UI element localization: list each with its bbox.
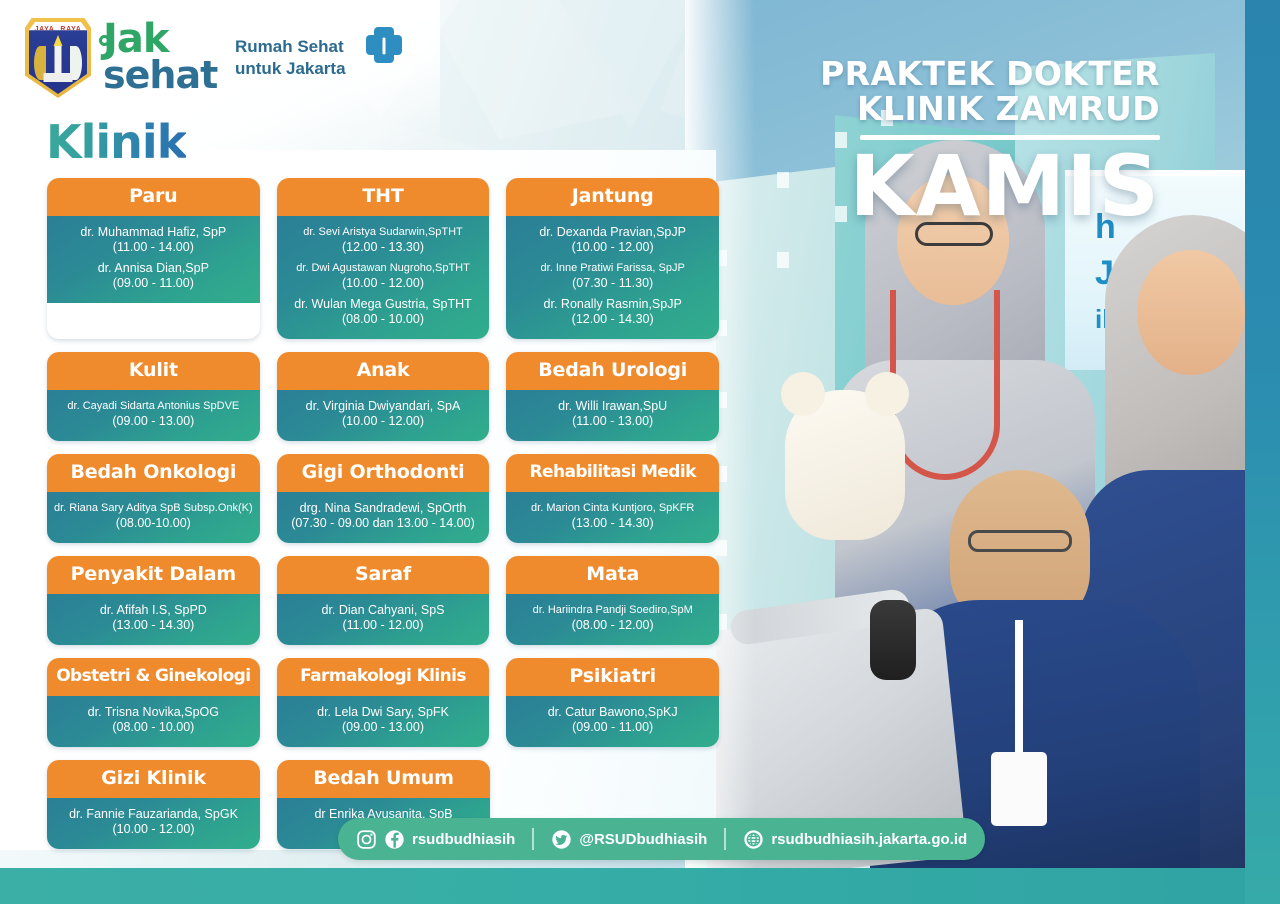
right-accent-bar xyxy=(1245,0,1280,904)
doctor-entry: dr. Sevi Aristya Sudarwin,SpTHT(12.00 - … xyxy=(281,225,486,255)
doctor-name: dr. Dian Cahyani, SpS xyxy=(281,603,486,618)
doctor-name: dr. Wulan Mega Gustria, SpTHT xyxy=(281,297,486,312)
doctor-name: dr. Willi Irawan,SpU xyxy=(510,399,715,414)
clinic-card-title: Rehabilitasi Medik xyxy=(506,454,719,492)
clinic-card-title: Farmakologi Klinis xyxy=(277,658,490,696)
doctor-entry: dr. Inne Pratiwi Farissa, SpJP(07.30 - 1… xyxy=(510,261,715,291)
clinic-card-title: Mata xyxy=(506,556,719,594)
clinic-card-title: Bedah Umum xyxy=(277,760,490,798)
doctor-schedule: (10.00 - 12.00) xyxy=(51,822,256,837)
clinic-card-title: Bedah Onkologi xyxy=(47,454,260,492)
medical-cross-icon xyxy=(362,23,406,72)
doctor-schedule: (13.00 - 14.30) xyxy=(51,618,256,633)
clinic-row: Parudr. Muhammad Hafiz, SpP(11.00 - 14.0… xyxy=(47,178,719,339)
doctor-schedule: (09.00 - 11.00) xyxy=(510,720,715,735)
clinic-card[interactable]: Parudr. Muhammad Hafiz, SpP(11.00 - 14.0… xyxy=(47,178,260,339)
doctor-schedule: (10.00 - 12.00) xyxy=(281,276,486,291)
bottom-accent-bar xyxy=(0,868,1280,904)
tagline-line-1: Rumah Sehat xyxy=(235,36,346,58)
stethoscope-dot-icon xyxy=(99,35,110,46)
doctor-schedule: (08.00-10.00) xyxy=(51,516,256,531)
header-line-2: KLINIK ZAMRUD xyxy=(820,91,1160,126)
doctor-name: dr. Sevi Aristya Sudarwin,SpTHT xyxy=(281,225,486,240)
doctor-name: dr. Muhammad Hafiz, SpP xyxy=(51,225,256,240)
doctor-schedule: (08.00 - 12.00) xyxy=(510,618,715,633)
doctor-schedule: (07.30 - 09.00 dan 13.00 - 14.00) xyxy=(281,516,486,531)
doctor-entry: dr. Fannie Fauzarianda, SpGK(10.00 - 12.… xyxy=(51,807,256,837)
doctor-entry: dr. Marion Cinta Kuntjoro, SpKFR(13.00 -… xyxy=(510,501,715,531)
doctor-name: dr. Riana Sary Aditya SpB Subsp.Onk(K) xyxy=(51,501,256,516)
doctor-name: dr. Lela Dwi Sary, SpFK xyxy=(281,705,486,720)
clinic-card-doctors: dr. Trisna Novika,SpOG(08.00 - 10.00) xyxy=(47,696,260,747)
clinic-card[interactable]: Jantungdr. Dexanda Pravian,SpJP(10.00 - … xyxy=(506,178,719,339)
doctor-entry: dr. Afifah I.S, SpPD(13.00 - 14.30) xyxy=(51,603,256,633)
doctor-schedule: (08.00 - 10.00) xyxy=(51,720,256,735)
doctor-entry: dr. Riana Sary Aditya SpB Subsp.Onk(K)(0… xyxy=(51,501,256,531)
clinic-card[interactable]: Obstetri & Ginekologidr. Trisna Novika,S… xyxy=(47,658,260,747)
clinic-card-doctors: dr. Catur Bawono,SpKJ(09.00 - 11.00) xyxy=(506,696,719,747)
header-line-1: PRAKTEK DOKTER xyxy=(820,56,1160,91)
clinic-card-title: Gizi Klinik xyxy=(47,760,260,798)
doctor-entry: dr. Virginia Dwiyandari, SpA(10.00 - 12.… xyxy=(281,399,486,429)
clinic-card-title: THT xyxy=(277,178,490,216)
jak-wordmark-top: Jak xyxy=(103,21,223,57)
clinic-row: Bedah Onkologidr. Riana Sary Aditya SpB … xyxy=(47,454,719,543)
doctor-schedule: (13.00 - 14.30) xyxy=(510,516,715,531)
clinic-card-doctors: drg. Nina Sandradewi, SpOrth(07.30 - 09.… xyxy=(277,492,490,543)
doctor-schedule: (09.00 - 13.00) xyxy=(281,720,486,735)
clinic-card[interactable]: THTdr. Sevi Aristya Sudarwin,SpTHT(12.00… xyxy=(277,178,490,339)
website-url[interactable]: rsudbudhiasih.jakarta.go.id xyxy=(771,831,967,848)
clinic-card[interactable]: Bedah Onkologidr. Riana Sary Aditya SpB … xyxy=(47,454,260,543)
doctor-name: dr. Dwi Agustawan Nugroho,SpTHT xyxy=(281,261,486,276)
doctor-name: dr. Dexanda Pravian,SpJP xyxy=(510,225,715,240)
clinic-card-title: Saraf xyxy=(277,556,490,594)
social-media-bar: rsudbudhiasih @RSUDbudhiasih rsudbudhias… xyxy=(338,818,985,860)
globe-icon[interactable] xyxy=(743,829,764,850)
doctor-schedule: (10.00 - 12.00) xyxy=(510,240,715,255)
poster-header: PRAKTEK DOKTER KLINIK ZAMRUD KAMIS xyxy=(820,56,1160,230)
clinic-card[interactable]: Matadr. Hariindra Pandji Soediro,SpM(08.… xyxy=(506,556,719,645)
doctor-name: dr. Fannie Fauzarianda, SpGK xyxy=(51,807,256,822)
clinic-card-title: Bedah Urologi xyxy=(506,352,719,390)
instagram-facebook-segment[interactable]: rsudbudhiasih xyxy=(356,829,515,850)
brand-logo-row: JAYA RAYA Jak sehat Rumah Sehat untuk Ja… xyxy=(25,18,406,98)
doctor-entry: dr. Cayadi Sidarta Antonius SpDVE(09.00 … xyxy=(51,399,256,429)
clinic-card[interactable]: Psikiatridr. Catur Bawono,SpKJ(09.00 - 1… xyxy=(506,658,719,747)
social-divider-1 xyxy=(532,828,534,850)
clinic-card[interactable]: Sarafdr. Dian Cahyani, SpS(11.00 - 12.00… xyxy=(277,556,490,645)
doctor-entry: dr. Catur Bawono,SpKJ(09.00 - 11.00) xyxy=(510,705,715,735)
doctor-name: dr. Inne Pratiwi Farissa, SpJP xyxy=(510,261,715,276)
clinic-card-doctors: dr. Riana Sary Aditya SpB Subsp.Onk(K)(0… xyxy=(47,492,260,543)
clinic-card-title: Gigi Orthodonti xyxy=(277,454,490,492)
slit-lamp-knob xyxy=(870,600,916,680)
twitter-icon[interactable] xyxy=(551,829,572,850)
clinic-card[interactable]: Gizi Klinikdr. Fannie Fauzarianda, SpGK(… xyxy=(47,760,260,849)
social-handle[interactable]: rsudbudhiasih xyxy=(412,831,515,848)
doctor-name: dr. Cayadi Sidarta Antonius SpDVE xyxy=(51,399,256,414)
page-title: Klinik xyxy=(46,115,186,169)
website-segment[interactable]: rsudbudhiasih.jakarta.go.id xyxy=(743,829,967,850)
clinic-row: Kulitdr. Cayadi Sidarta Antonius SpDVE(0… xyxy=(47,352,719,441)
clinic-card-doctors: dr. Lela Dwi Sary, SpFK(09.00 - 13.00) xyxy=(277,696,490,747)
clinic-card-doctors: dr. Hariindra Pandji Soediro,SpM(08.00 -… xyxy=(506,594,719,645)
doctor-schedule: (11.00 - 12.00) xyxy=(281,618,486,633)
doctor-glasses-icon xyxy=(968,530,1072,552)
twitter-segment[interactable]: @RSUDbudhiasih xyxy=(551,829,707,850)
clinic-card-doctors: dr. Virginia Dwiyandari, SpA(10.00 - 12.… xyxy=(277,390,490,441)
doctor-name: dr. Catur Bawono,SpKJ xyxy=(510,705,715,720)
clinic-card-grid: Parudr. Muhammad Hafiz, SpP(11.00 - 14.0… xyxy=(47,178,719,862)
clinic-card-title: Penyakit Dalam xyxy=(47,556,260,594)
doctor-name: dr. Ronally Rasmin,SpJP xyxy=(510,297,715,312)
jaksehat-logo: Jak sehat xyxy=(103,21,223,95)
doctor-schedule: (07.30 - 11.30) xyxy=(510,276,715,291)
tagline: Rumah Sehat untuk Jakarta xyxy=(235,36,346,80)
doctor-schedule: (11.00 - 14.00) xyxy=(51,240,256,255)
doctor-name: dr. Trisna Novika,SpOG xyxy=(51,705,256,720)
tagline-line-2: untuk Jakarta xyxy=(235,58,346,80)
nurse-right-face xyxy=(1137,250,1245,375)
doctor-schedule: (09.00 - 13.00) xyxy=(51,414,256,429)
clinic-card[interactable]: Rehabilitasi Medikdr. Marion Cinta Kuntj… xyxy=(506,454,719,543)
clinic-card-doctors: dr. Willi Irawan,SpU(11.00 - 13.00) xyxy=(506,390,719,441)
id-badge xyxy=(991,752,1047,826)
doctor-entry: dr. Wulan Mega Gustria, SpTHT(08.00 - 10… xyxy=(281,297,486,327)
doctor-entry: dr. Trisna Novika,SpOG(08.00 - 10.00) xyxy=(51,705,256,735)
poster-canvas: h Ja ih JAYA RAYA xyxy=(0,0,1280,904)
doctor-name: dr. Marion Cinta Kuntjoro, SpKFR xyxy=(510,501,715,516)
social-divider-2 xyxy=(724,828,726,850)
clinic-card-doctors: dr. Afifah I.S, SpPD(13.00 - 14.30) xyxy=(47,594,260,645)
doctor-entry: drg. Nina Sandradewi, SpOrth(07.30 - 09.… xyxy=(281,501,486,531)
twitter-handle[interactable]: @RSUDbudhiasih xyxy=(579,831,707,848)
clinic-card-title: Jantung xyxy=(506,178,719,216)
clinic-card-doctors: dr. Dexanda Pravian,SpJP(10.00 - 12.00)d… xyxy=(506,216,719,339)
clinic-card[interactable]: Farmakologi Klinisdr. Lela Dwi Sary, SpF… xyxy=(277,658,490,747)
clinic-card[interactable]: Gigi Orthodontidrg. Nina Sandradewi, SpO… xyxy=(277,454,490,543)
doctor-entry: dr. Lela Dwi Sary, SpFK(09.00 - 13.00) xyxy=(281,705,486,735)
doctor-name: dr. Annisa Dian,SpP xyxy=(51,261,256,276)
clinic-card-title: Anak xyxy=(277,352,490,390)
header-day: KAMIS xyxy=(820,142,1160,230)
clinic-card-title: Kulit xyxy=(47,352,260,390)
doctor-name: dr. Virginia Dwiyandari, SpA xyxy=(281,399,486,414)
jak-wordmark-bottom: sehat xyxy=(103,57,223,93)
teddy-bear xyxy=(785,390,905,540)
doctor-entry: dr. Dwi Agustawan Nugroho,SpTHT(10.00 - … xyxy=(281,261,486,291)
doctor-name: dr. Afifah I.S, SpPD xyxy=(51,603,256,618)
doctor-schedule: (12.00 - 14.30) xyxy=(510,312,715,327)
doctor-schedule: (08.00 - 10.00) xyxy=(281,312,486,327)
doctor-entry: dr. Willi Irawan,SpU(11.00 - 13.00) xyxy=(510,399,715,429)
facebook-icon[interactable] xyxy=(384,829,405,850)
doctor-entry: dr. Annisa Dian,SpP(09.00 - 11.00) xyxy=(51,261,256,291)
doctor-schedule: (12.00 - 13.30) xyxy=(281,240,486,255)
instagram-icon[interactable] xyxy=(356,829,377,850)
clinic-card-doctors: dr. Fannie Fauzarianda, SpGK(10.00 - 12.… xyxy=(47,798,260,849)
clinic-row: Penyakit Dalamdr. Afifah I.S, SpPD(13.00… xyxy=(47,556,719,645)
jakarta-emblem-icon: JAYA RAYA xyxy=(25,18,91,98)
doctor-entry: dr. Ronally Rasmin,SpJP(12.00 - 14.30) xyxy=(510,297,715,327)
clinic-card-doctors: dr. Marion Cinta Kuntjoro, SpKFR(13.00 -… xyxy=(506,492,719,543)
clinic-card-doctors: dr. Muhammad Hafiz, SpP(11.00 - 14.00)dr… xyxy=(47,216,260,303)
doctor-entry: dr. Dexanda Pravian,SpJP(10.00 - 12.00) xyxy=(510,225,715,255)
clinic-card-doctors: dr. Dian Cahyani, SpS(11.00 - 12.00) xyxy=(277,594,490,645)
clinic-card-title: Psikiatri xyxy=(506,658,719,696)
doctor-schedule: (10.00 - 12.00) xyxy=(281,414,486,429)
doctor-entry: dr. Muhammad Hafiz, SpP(11.00 - 14.00) xyxy=(51,225,256,255)
clinic-card[interactable]: Bedah Urologidr. Willi Irawan,SpU(11.00 … xyxy=(506,352,719,441)
clinic-card-title: Paru xyxy=(47,178,260,216)
clinic-card-doctors: dr. Sevi Aristya Sudarwin,SpTHT(12.00 - … xyxy=(277,216,490,339)
clinic-card-doctors: dr. Cayadi Sidarta Antonius SpDVE(09.00 … xyxy=(47,390,260,441)
doctor-entry: dr. Dian Cahyani, SpS(11.00 - 12.00) xyxy=(281,603,486,633)
clinic-card[interactable]: Kulitdr. Cayadi Sidarta Antonius SpDVE(0… xyxy=(47,352,260,441)
clinic-card[interactable]: Anakdr. Virginia Dwiyandari, SpA(10.00 -… xyxy=(277,352,490,441)
doctor-schedule: (09.00 - 11.00) xyxy=(51,276,256,291)
clinic-card-title: Obstetri & Ginekologi xyxy=(47,658,260,696)
lanyard xyxy=(1015,620,1023,760)
clinic-row: Obstetri & Ginekologidr. Trisna Novika,S… xyxy=(47,658,719,747)
clinic-card[interactable]: Penyakit Dalamdr. Afifah I.S, SpPD(13.00… xyxy=(47,556,260,645)
doctor-entry: dr. Hariindra Pandji Soediro,SpM(08.00 -… xyxy=(510,603,715,633)
doctor-name: drg. Nina Sandradewi, SpOrth xyxy=(281,501,486,516)
doctor-name: dr. Hariindra Pandji Soediro,SpM xyxy=(510,603,715,618)
doctor-schedule: (11.00 - 13.00) xyxy=(510,414,715,429)
